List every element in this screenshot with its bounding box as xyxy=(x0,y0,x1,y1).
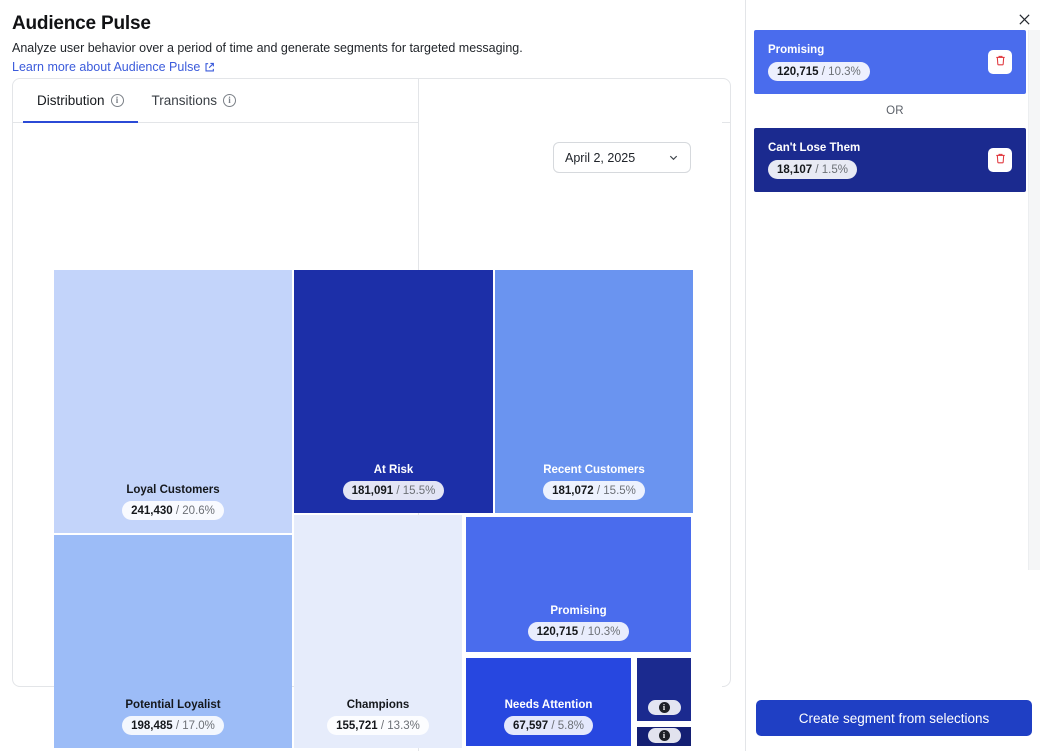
info-icon: i xyxy=(659,702,670,713)
close-icon xyxy=(1018,13,1031,29)
selection-name: Can't Lose Them xyxy=(768,141,860,156)
tile-value: 181,091 xyxy=(352,485,394,497)
selection-percent: 10.3% xyxy=(828,66,861,78)
tile-percent: 20.6% xyxy=(182,505,215,517)
info-icon: i xyxy=(659,730,670,741)
tile-percent: 13.3% xyxy=(387,720,420,732)
treemap-tile-needs-attention[interactable]: Needs Attention 67,597 / 5.8% xyxy=(464,656,633,748)
create-segment-button[interactable]: Create segment from selections xyxy=(756,700,1032,736)
tile-value: 198,485 xyxy=(131,720,173,732)
trash-icon xyxy=(994,54,1007,70)
date-filter-value: April 2, 2025 xyxy=(565,151,635,165)
tile-value-pill: 198,485 / 17.0% xyxy=(122,716,224,735)
selection-value-pill: 18,107 / 1.5% xyxy=(768,160,857,179)
tile-value: 155,721 xyxy=(336,720,378,732)
tile-label: At Risk xyxy=(374,463,414,478)
selection-value: 120,715 xyxy=(777,66,819,78)
tile-value: 241,430 xyxy=(131,505,173,517)
tile-label: Potential Loyalist xyxy=(125,698,220,713)
selection-card-cant-lose-them[interactable]: Can't Lose Them 18,107 / 1.5% xyxy=(754,128,1026,192)
main-content: Audience Pulse Analyze user behavior ove… xyxy=(0,0,745,751)
page-title: Audience Pulse xyxy=(12,12,733,36)
treemap-tile-at-risk[interactable]: At Risk 181,091 / 15.5% xyxy=(294,270,493,513)
distribution-card: Distribution i Transitions i A xyxy=(12,78,731,687)
tile-info-pill[interactable]: i xyxy=(648,700,681,715)
tile-value-pill: 67,597 / 5.8% xyxy=(504,716,593,735)
close-panel-button[interactable] xyxy=(1013,10,1035,32)
selection-card-promising[interactable]: Promising 120,715 / 10.3% xyxy=(754,30,1026,94)
page-subtitle: Analyze user behavior over a period of t… xyxy=(12,40,733,57)
treemap-tile-promising[interactable]: Promising 120,715 / 10.3% xyxy=(464,515,693,654)
tile-value: 181,072 xyxy=(552,485,594,497)
tile-label: Champions xyxy=(347,698,410,713)
tile-info-pill[interactable]: i xyxy=(648,728,681,743)
tile-percent: 15.5% xyxy=(403,485,436,497)
selection-value: 18,107 xyxy=(777,164,812,176)
learn-more-link[interactable]: Learn more about Audience Pulse xyxy=(12,59,215,76)
tile-value-pill: 181,072 / 15.5% xyxy=(543,481,645,500)
info-icon[interactable]: i xyxy=(111,94,124,107)
tab-transitions-label: Transitions xyxy=(152,93,218,108)
tile-label: Recent Customers xyxy=(543,463,645,478)
tab-distribution[interactable]: Distribution i xyxy=(23,79,138,122)
tile-label: Needs Attention xyxy=(505,698,593,713)
selection-percent: 1.5% xyxy=(822,164,848,176)
tile-percent: 10.3% xyxy=(588,626,621,638)
audience-pulse-page: Audience Pulse Analyze user behavior ove… xyxy=(0,0,1049,751)
learn-more-label: Learn more about Audience Pulse xyxy=(12,59,200,76)
delete-selection-button[interactable] xyxy=(988,50,1012,74)
tab-transitions[interactable]: Transitions i xyxy=(138,79,251,122)
tile-value: 120,715 xyxy=(537,626,579,638)
treemap-tile-recent-customers[interactable]: Recent Customers 181,072 / 15.5% xyxy=(495,270,693,513)
info-icon[interactable]: i xyxy=(223,94,236,107)
tile-value-pill: 241,430 / 20.6% xyxy=(122,501,224,520)
operator-label: OR xyxy=(750,94,1040,128)
treemap-tile-small-1[interactable]: i xyxy=(635,656,693,723)
treemap-tile-champions[interactable]: Champions 155,721 / 13.3% xyxy=(294,515,462,748)
treemap-tile-small-2[interactable]: i xyxy=(635,725,693,748)
segment-treemap: Loyal Customers 241,430 / 20.6% Potentia… xyxy=(54,270,693,748)
treemap-tile-loyal-customers[interactable]: Loyal Customers 241,430 / 20.6% xyxy=(54,270,292,533)
selection-name: Promising xyxy=(768,43,870,58)
tile-percent: 15.5% xyxy=(603,485,636,497)
tile-label: Loyal Customers xyxy=(126,483,219,498)
delete-selection-button[interactable] xyxy=(988,148,1012,172)
tile-value-pill: 155,721 / 13.3% xyxy=(327,716,429,735)
tab-bar: Distribution i Transitions i A xyxy=(13,79,730,123)
tile-label: Promising xyxy=(550,604,606,619)
chart-area: April 2, 2025 Loyal Customers 241,430 / xyxy=(13,123,730,686)
tab-distribution-label: Distribution xyxy=(37,93,105,108)
selection-panel: Promising 120,715 / 10.3% xyxy=(745,0,1049,751)
external-link-icon xyxy=(204,62,215,73)
tile-value-pill: 120,715 / 10.3% xyxy=(528,622,630,641)
selection-list: Promising 120,715 / 10.3% xyxy=(750,30,1040,570)
tile-value-pill: 181,091 / 15.5% xyxy=(343,481,445,500)
trash-icon xyxy=(994,152,1007,168)
tile-percent: 5.8% xyxy=(558,720,584,732)
tile-value: 67,597 xyxy=(513,720,548,732)
tile-percent: 17.0% xyxy=(182,720,215,732)
date-filter-select[interactable]: April 2, 2025 xyxy=(553,142,691,173)
treemap-tile-potential-loyalist[interactable]: Potential Loyalist 198,485 / 17.0% xyxy=(54,535,292,748)
chevron-down-icon xyxy=(668,152,679,163)
selection-value-pill: 120,715 / 10.3% xyxy=(768,62,870,81)
